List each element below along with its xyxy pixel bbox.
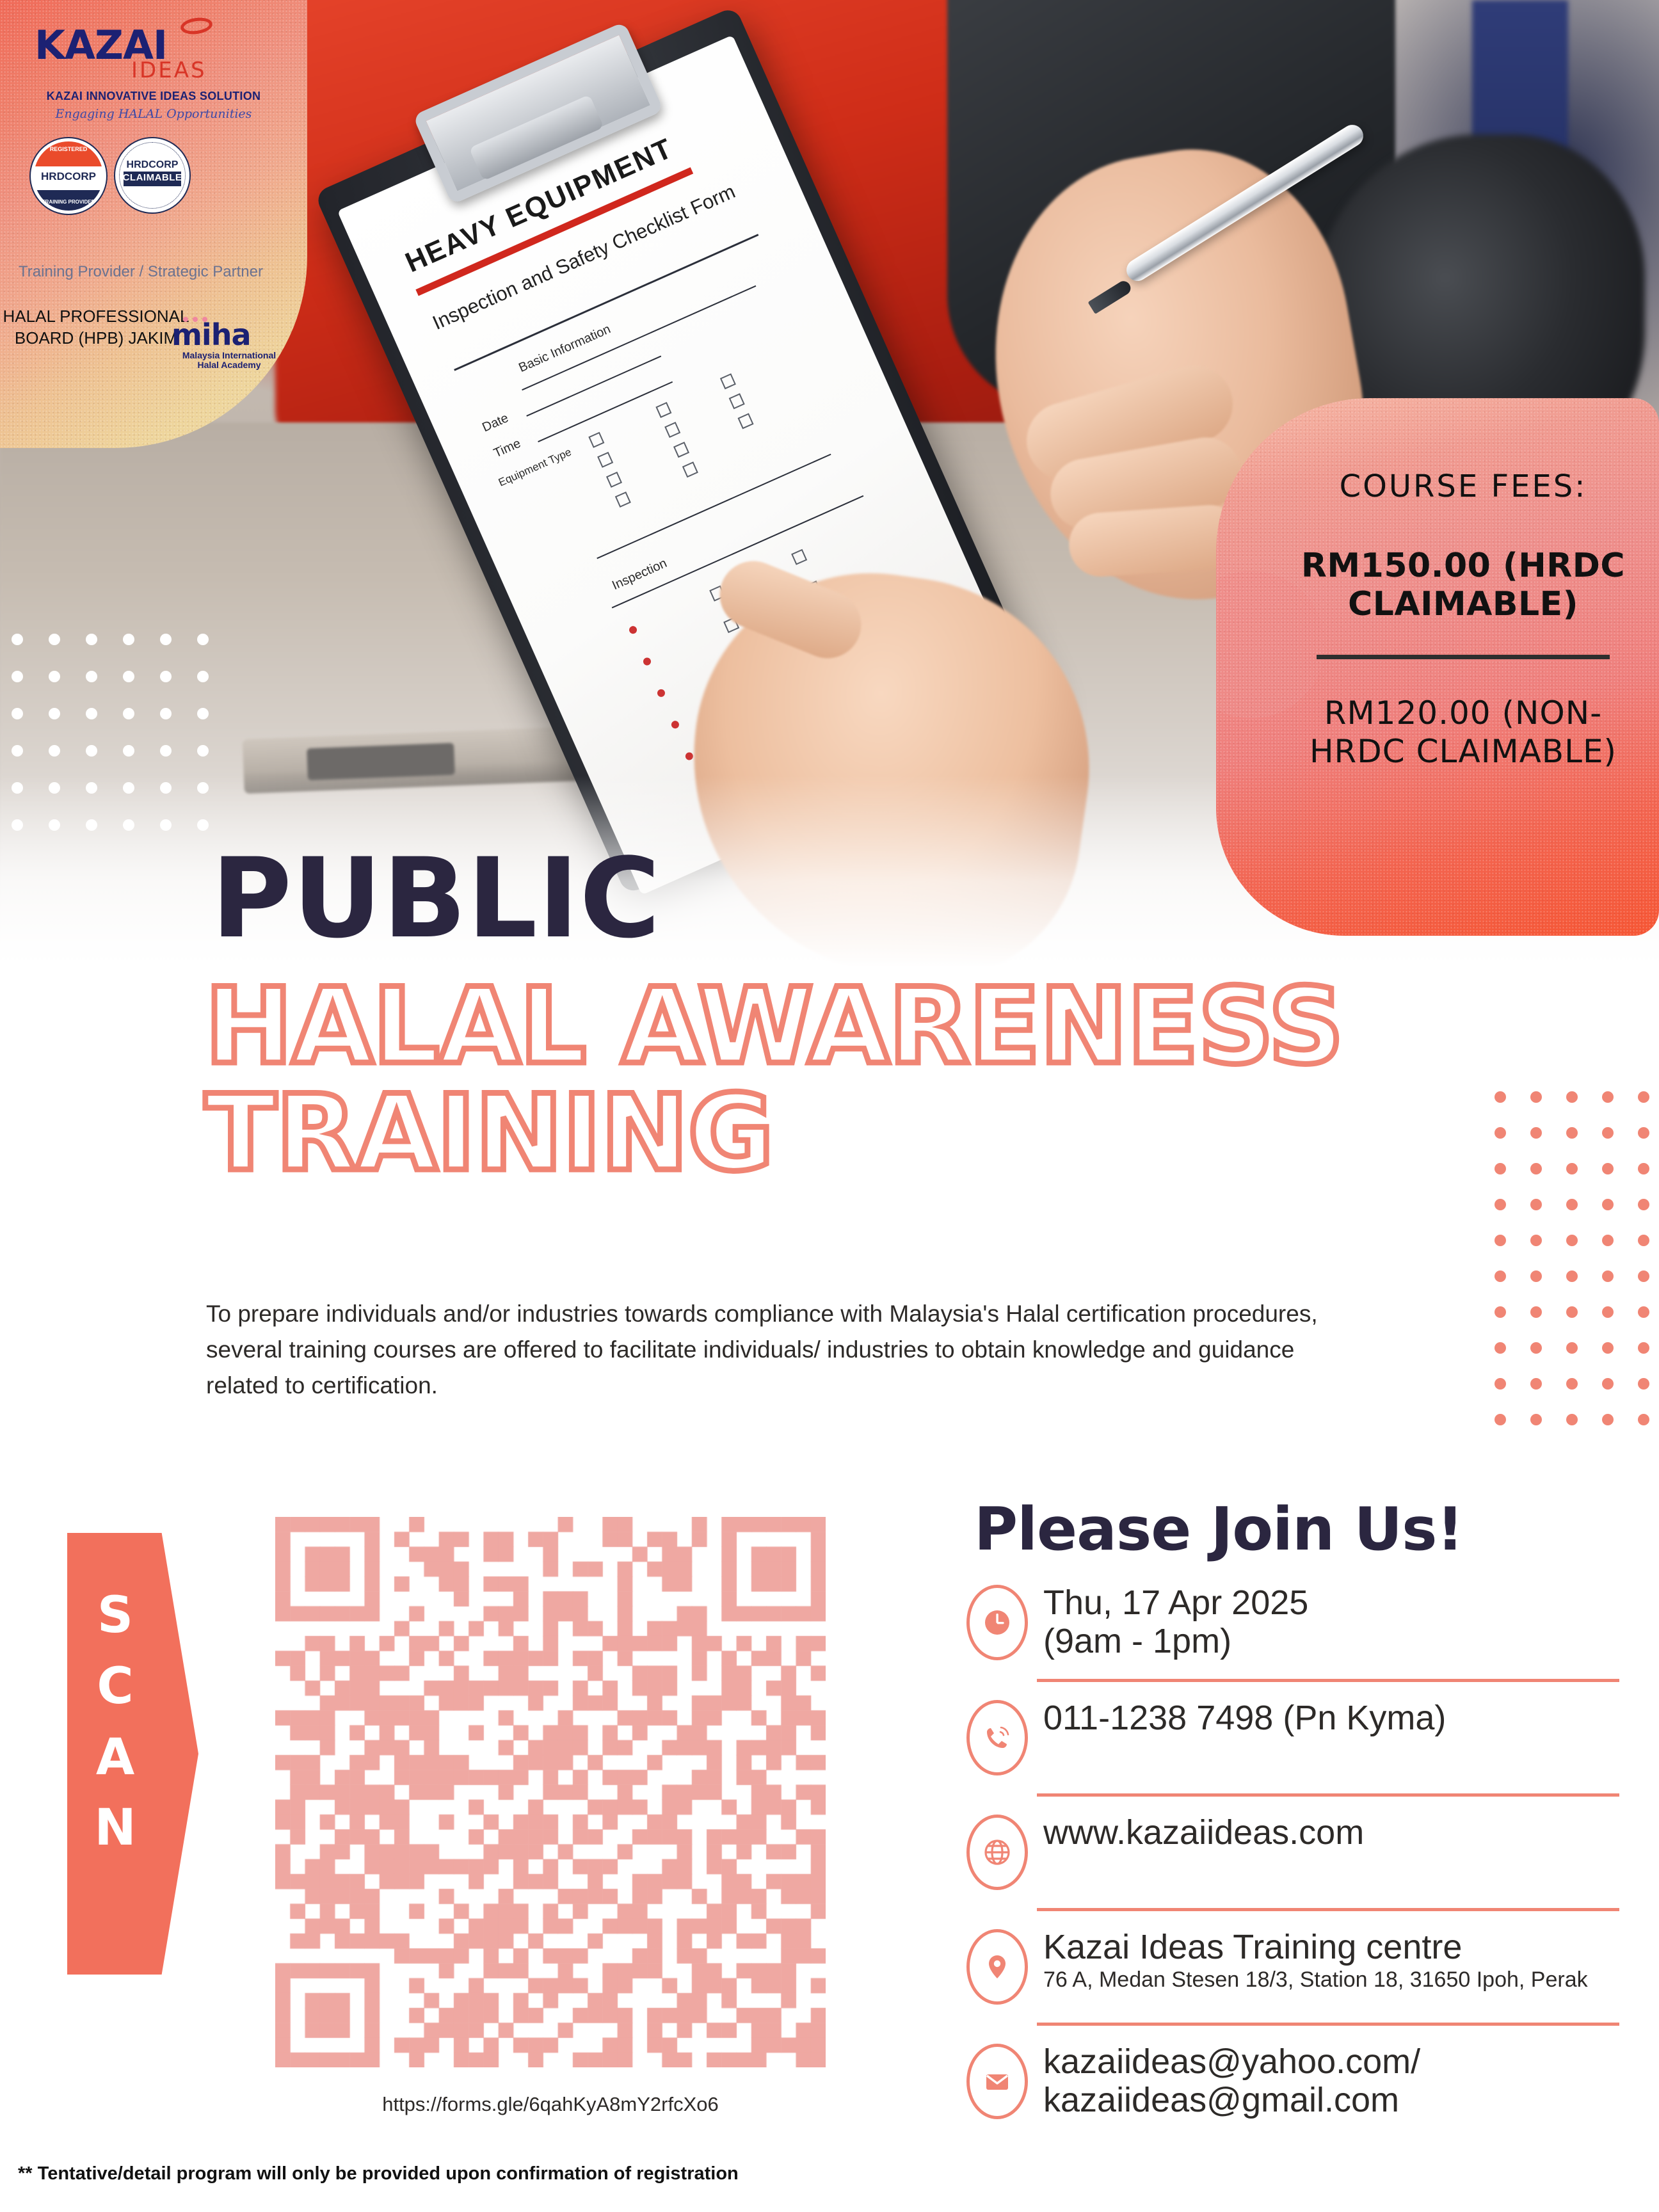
miha-subtitle-line2: Halal Academy (172, 360, 287, 370)
clipboard-field-time: Time (492, 437, 523, 461)
contact-website: www.kazaiideas.com (1043, 1813, 1619, 1852)
miha-subtitle-line1: Malaysia International (172, 351, 287, 360)
contact-divider-1 (1037, 1679, 1619, 1682)
brand-tagline-primary: KAZAI INNOVATIVE IDEAS SOLUTION (26, 90, 282, 103)
brand-tagline-secondary: Engaging HALAL Opportunities (26, 107, 282, 121)
poster-root: HEAVY EQUIPMENT Inspection and Safety Ch… (0, 0, 1659, 2212)
partner-hpb-label: HALAL PROFESSIONAL BOARD (HPB) JAKIM (0, 306, 192, 349)
course-fees-divider (1317, 655, 1610, 659)
envelope-icon (966, 2044, 1028, 2119)
contact-email-2: kazaiideas@gmail.com (1043, 2081, 1619, 2119)
contact-list: Thu, 17 Apr 2025 (9am - 1pm) 011-1238 74… (966, 1581, 1619, 2126)
scan-label: SCAN (67, 1580, 163, 1864)
seal-claimable-hrd: HRDCORP (118, 159, 187, 171)
photo-kerb-shadow (307, 743, 455, 781)
partner-heading: Training Provider / Strategic Partner (13, 262, 269, 281)
contact-divider-4 (1037, 2023, 1619, 2026)
decorative-dots-left (12, 634, 216, 826)
contact-address-detail: 76 A, Medan Stesen 18/3, Station 18, 316… (1043, 1966, 1619, 1994)
contact-email-1: kazaiideas@yahoo.com/ (1043, 2042, 1619, 2081)
contact-item-date: Thu, 17 Apr 2025 (9am - 1pm) (966, 1581, 1619, 1667)
qr-code[interactable] (275, 1517, 826, 2067)
contact-address-name: Kazai Ideas Training centre (1043, 1928, 1619, 1966)
page-title-line1: HALAL AWARENESS (205, 965, 1343, 1087)
course-description: To prepare individuals and/or industries… (206, 1296, 1333, 1404)
contact-heading: Please Join Us! (974, 1495, 1463, 1564)
brand-badge: KAZAI IDEAS KAZAI INNOVATIVE IDEAS SOLUT… (0, 0, 307, 448)
contact-divider-2 (1037, 1793, 1619, 1797)
course-fee-secondary: RM120.00 (NON-HRDC CLAIMABLE) (1293, 694, 1633, 771)
seal-registered-bottom: TRAINING PROVIDER (34, 199, 103, 205)
qr-url-label: https://forms.gle/6qahKyA8mY2rfcXo6 (275, 2093, 826, 2116)
page-kicker: PUBLIC (211, 844, 661, 954)
phone-icon (966, 1700, 1028, 1775)
page-title-line2: TRAINING (205, 1080, 1485, 1187)
course-fees-badge: COURSE FEES: RM150.00 (HRDC CLAIMABLE) R… (1216, 398, 1659, 936)
contact-date-line2: (9am - 1pm) (1043, 1622, 1619, 1660)
contact-item-address: Kazai Ideas Training centre 76 A, Medan … (966, 1925, 1619, 2011)
hrdcorp-claimable-seal-icon: HRDCORP CLAIMABLE (115, 138, 189, 212)
course-fees-label: COURSE FEES: (1293, 469, 1633, 504)
clipboard-field-date: Date (480, 411, 511, 435)
footnote: ** Tentative/detail program will only be… (18, 2163, 739, 2184)
brand-logo-subword: IDEAS (131, 58, 207, 83)
page-title: HALAL AWARENESS TRAINING (205, 973, 1485, 1187)
seal-claimable-band: CLAIMABLE (118, 172, 187, 183)
location-pin-icon (966, 1929, 1028, 2005)
decorative-dots-right (1495, 1091, 1655, 1463)
globe-icon (966, 1815, 1028, 1890)
clipboard-section-inspection: Inspection (610, 556, 669, 593)
contact-date-line1: Thu, 17 Apr 2025 (1043, 1583, 1619, 1622)
clock-icon (966, 1585, 1028, 1660)
contact-phone-number: 011-1238 7498 (Pn Kyma) (1043, 1699, 1619, 1737)
seal-registered-label: REGISTERED (34, 146, 103, 152)
seal-registered-hrd: HRDCORP (34, 170, 103, 183)
contact-divider-3 (1037, 1908, 1619, 1911)
miha-dots-icon (183, 314, 212, 325)
contact-item-phone[interactable]: 011-1238 7498 (Pn Kyma) (966, 1696, 1619, 1782)
course-fee-primary: RM150.00 (HRDC CLAIMABLE) (1293, 547, 1633, 624)
contact-item-email[interactable]: kazaiideas@yahoo.com/ kazaiideas@gmail.c… (966, 2040, 1619, 2126)
scan-arrow-banner: SCAN (67, 1533, 198, 1975)
contact-item-website[interactable]: www.kazaiideas.com (966, 1811, 1619, 1896)
miha-logo: miha Malaysia International Halal Academ… (172, 320, 287, 371)
clipboard-section-basic: Basic Information (517, 322, 613, 376)
hrdcorp-registered-seal-icon: REGISTERED HRDCORP TRAINING PROVIDER (31, 138, 106, 214)
